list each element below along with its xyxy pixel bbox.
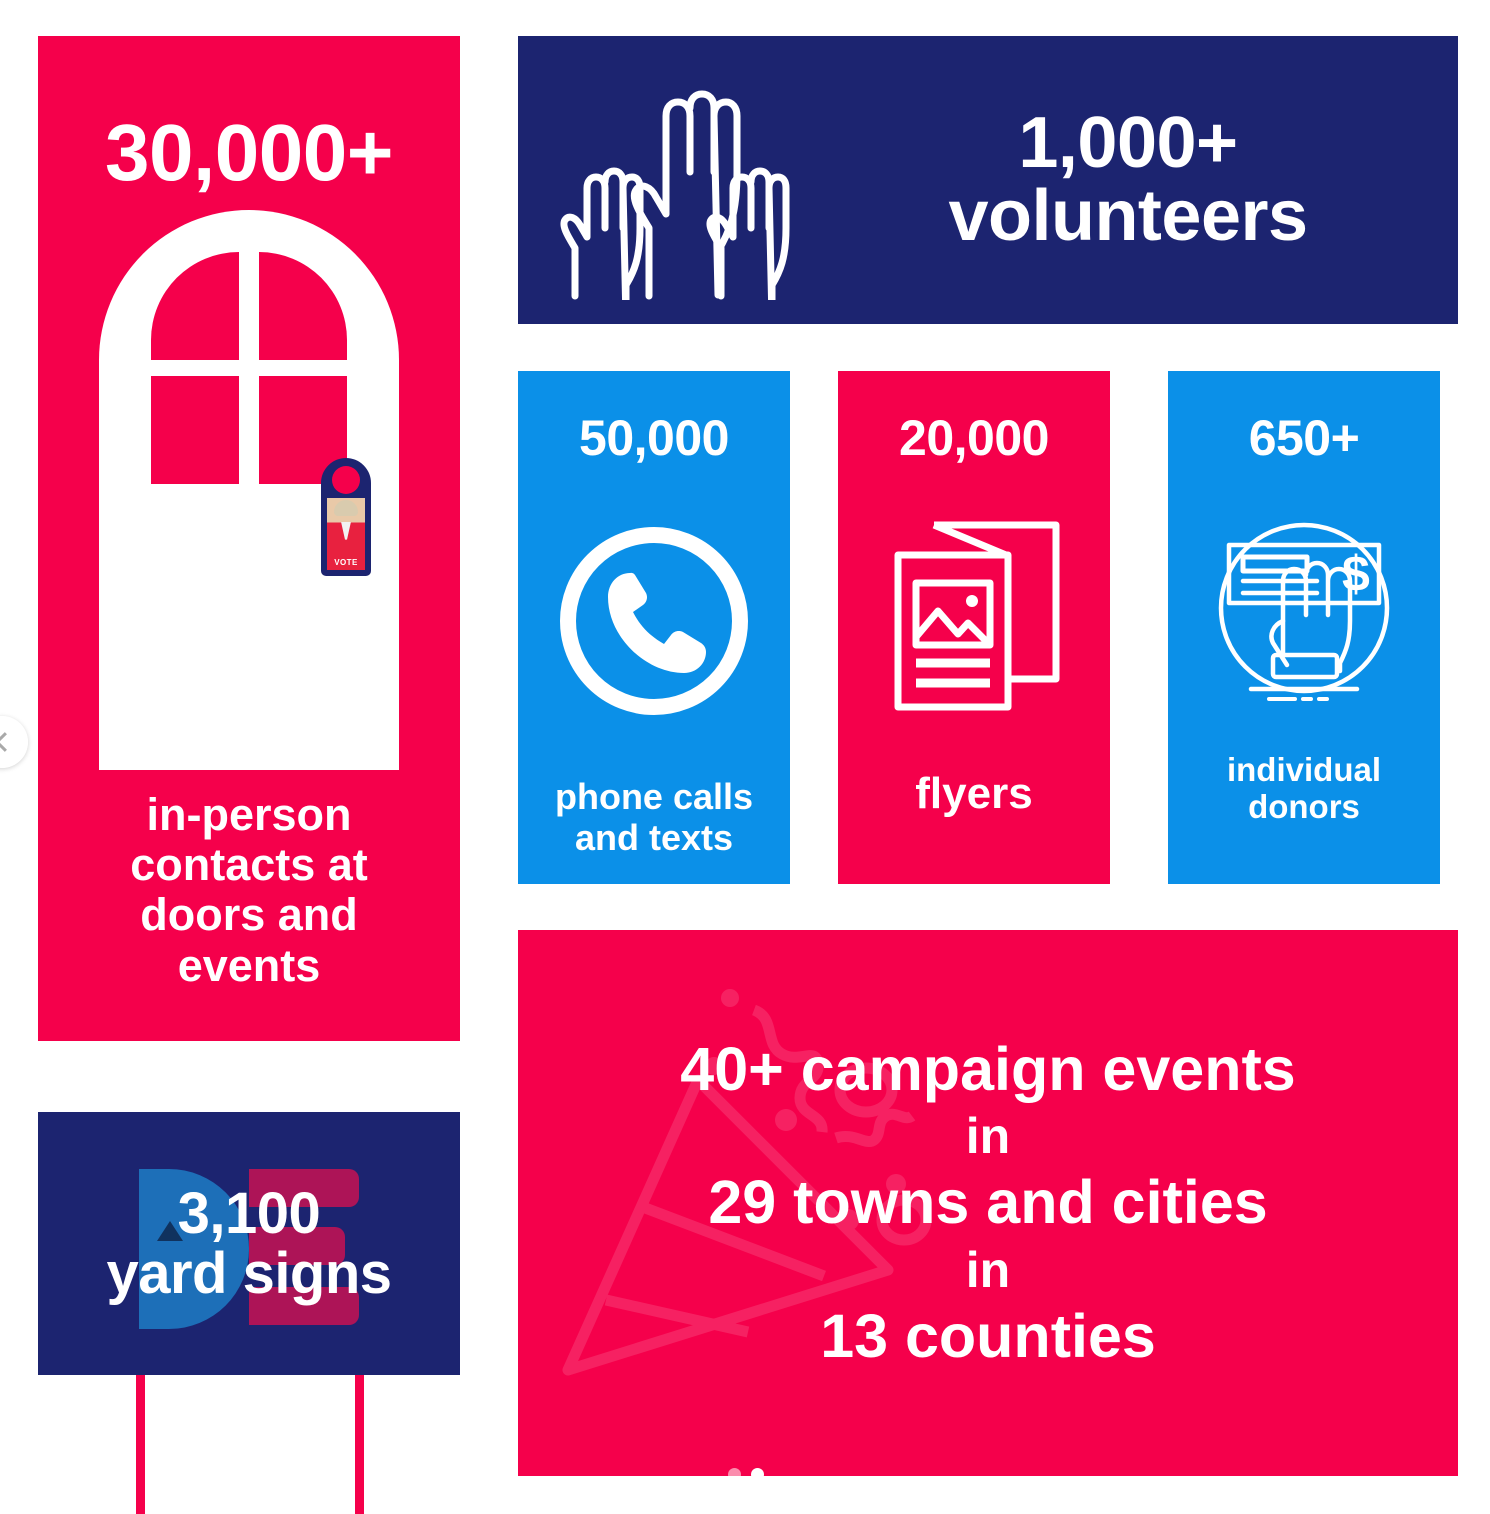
stat-panel-donors: 650+ $ individual donors — [1168, 371, 1440, 884]
raised-hands-icon — [518, 60, 818, 300]
door-pane-bottom-left — [151, 376, 239, 484]
vote-label: VOTE — [327, 558, 365, 567]
phone-in-circle-icon — [554, 464, 754, 777]
door-hanger-hole — [332, 466, 360, 494]
yard-sign-board: 3,100 yard signs — [38, 1112, 460, 1375]
chevron-left-icon — [0, 732, 15, 752]
stat-number-phone-calls: 50,000 — [579, 413, 729, 464]
events-line-4: in — [518, 1240, 1458, 1300]
stat-caption-flyers: flyers — [903, 769, 1044, 818]
brochure-icon — [874, 464, 1074, 769]
stat-panel-flyers: 20,000 flyers — [838, 371, 1110, 884]
infographic-canvas: 30,000+ VOTE in-person contacts at doors… — [0, 0, 1490, 1514]
stat-panel-volunteers: 1,000+ volunteers — [518, 36, 1458, 324]
front-door-icon: VOTE — [99, 210, 399, 770]
door-hanger-icon: VOTE — [321, 458, 371, 576]
stat-number-donors: 650+ — [1249, 413, 1360, 464]
door-pane-top-right — [259, 252, 347, 360]
stat-caption-phone-calls: phone calls and texts — [518, 777, 790, 858]
candidate-collar — [341, 522, 351, 540]
events-line-2: in — [518, 1106, 1458, 1166]
stat-number-volunteers: 1,000+ volunteers — [818, 107, 1458, 254]
stat-panel-campaign-events: 40+ campaign events in 29 towns and citi… — [518, 930, 1458, 1476]
stat-panel-in-person-contacts: 30,000+ VOTE in-person contacts at doors… — [38, 36, 460, 1041]
stat-caption-contacts: in-person contacts at doors and events — [38, 790, 460, 992]
stat-caption-donors: individual donors — [1168, 752, 1440, 826]
door-window — [151, 252, 347, 484]
stat-panel-phone-calls: 50,000 phone calls and texts — [518, 371, 790, 884]
hand-holding-check-icon: $ — [1199, 464, 1409, 752]
events-line-5: 13 counties — [518, 1300, 1458, 1373]
carousel-prev-button[interactable] — [0, 716, 28, 768]
stat-number-flyers: 20,000 — [899, 413, 1049, 464]
candidate-photo: VOTE — [327, 498, 365, 570]
yard-sign-stake-left — [136, 1375, 145, 1514]
events-text-block: 40+ campaign events in 29 towns and citi… — [518, 1033, 1458, 1373]
yard-sign-stake-right — [355, 1375, 364, 1514]
events-line-3: 29 towns and cities — [518, 1166, 1458, 1239]
carousel-dot-1[interactable] — [728, 1468, 741, 1481]
door-pane-top-left — [151, 252, 239, 360]
candidate-hair — [334, 500, 358, 516]
stat-number-yard-signs: 3,100 — [178, 1184, 321, 1243]
carousel-dots[interactable] — [728, 1468, 764, 1481]
stat-caption-yard-signs: yard signs — [106, 1244, 391, 1303]
stat-panel-yard-signs: 3,100 yard signs — [38, 1112, 460, 1514]
carousel-dot-2[interactable] — [751, 1468, 764, 1481]
events-line-1: 40+ campaign events — [518, 1033, 1458, 1106]
stat-number-contacts: 30,000+ — [38, 112, 460, 194]
